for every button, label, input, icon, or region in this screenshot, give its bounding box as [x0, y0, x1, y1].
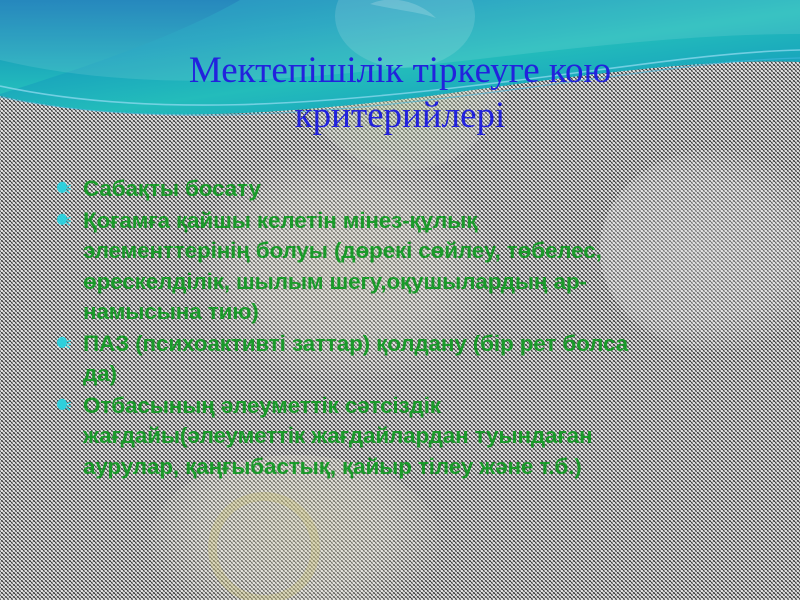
- list-item-label: Қоғамға қайшы келетін мінез-құлық элемен…: [83, 206, 782, 328]
- bullet-list: Сабақты босату Қоғамға қайшы келетін мін…: [56, 174, 782, 483]
- list-item: Сабақты босату: [56, 174, 782, 205]
- teardrop-bullet-icon: [56, 213, 71, 229]
- list-item: Қоғамға қайшы келетін мінез-құлық элемен…: [56, 206, 782, 328]
- list-item: ПАЗ (психоактивті заттар) қолдану (бір р…: [56, 329, 782, 390]
- teardrop-bullet-icon: [56, 181, 71, 197]
- presentation-slide: Мектепішілік тіркеуге кою критерийлері С…: [0, 0, 800, 600]
- list-item-label: Отбасының әлеуметтік сәтсіздік жағдайы(ә…: [83, 391, 782, 483]
- list-item-label: Сабақты босату: [83, 174, 782, 205]
- list-item-label: ПАЗ (психоактивті заттар) қолдану (бір р…: [83, 329, 782, 390]
- list-item: Отбасының әлеуметтік сәтсіздік жағдайы(ә…: [56, 391, 782, 483]
- teardrop-bullet-icon: [56, 398, 71, 414]
- page-title: Мектепішілік тіркеуге кою критерийлері: [40, 48, 760, 138]
- teardrop-bullet-icon: [56, 336, 71, 352]
